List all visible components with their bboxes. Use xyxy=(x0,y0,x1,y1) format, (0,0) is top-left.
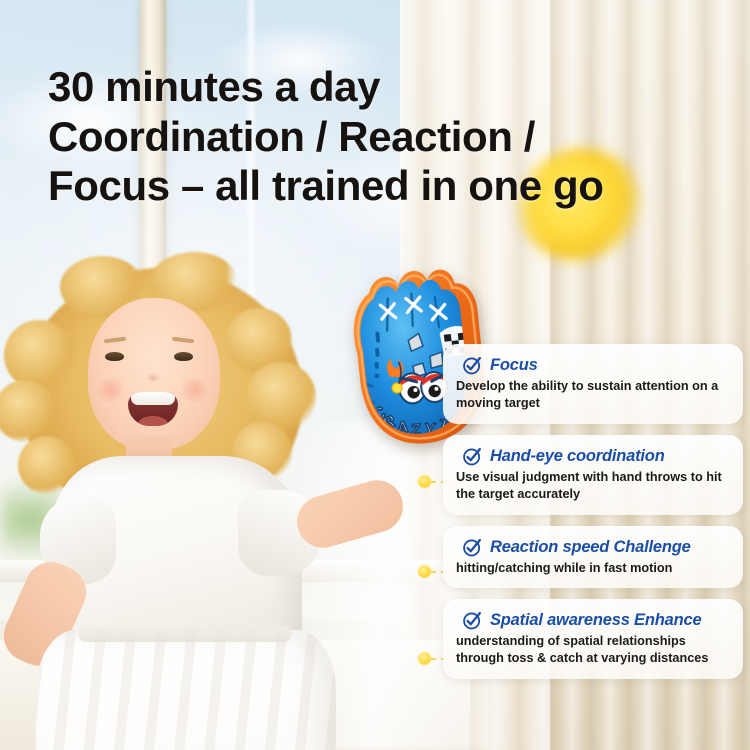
check-circle-icon xyxy=(462,537,483,558)
connector-dot xyxy=(418,475,431,488)
tongue xyxy=(138,416,168,426)
check-circle-icon xyxy=(462,446,483,467)
cheek-left xyxy=(94,378,128,402)
eye-right xyxy=(174,352,193,361)
promo-banner: C R A Z Y T O topbin xyxy=(0,0,750,750)
hair-curl xyxy=(4,320,74,390)
card-header: Reaction speed Challenge xyxy=(462,537,730,558)
headline-line-2: Coordination / Reaction / xyxy=(48,112,738,162)
feature-card-hand-eye-coordination[interactable]: Hand-eye coordination Use visual judgmen… xyxy=(443,435,743,515)
card-title: Spatial awareness Enhance xyxy=(490,611,701,630)
feature-card-spatial-awareness[interactable]: Spatial awareness Enhance understanding … xyxy=(443,599,743,679)
card-description: understanding of spatial relationships t… xyxy=(456,633,730,667)
check-circle-icon xyxy=(462,355,483,376)
card-description: hitting/catching while in fast motion xyxy=(456,560,730,577)
teeth xyxy=(131,392,175,405)
waistband xyxy=(78,626,292,642)
headline-line-3: Focus – all trained in one go xyxy=(48,161,738,211)
check-circle-icon xyxy=(462,610,483,631)
headline-line-1: 30 minutes a day xyxy=(48,62,738,112)
connector-dot xyxy=(418,565,431,578)
cheek-right xyxy=(178,378,212,402)
card-header: Focus xyxy=(462,355,730,376)
card-title: Reaction speed Challenge xyxy=(490,538,691,557)
nose xyxy=(146,372,160,381)
white-skirt xyxy=(36,630,336,750)
card-header: Spatial awareness Enhance xyxy=(462,610,730,631)
feature-card-list: Focus Develop the ability to sustain att… xyxy=(443,344,743,690)
card-description: Use visual judgment with hand throws to … xyxy=(456,469,730,503)
arm-right xyxy=(291,474,409,554)
feature-card-reaction-speed[interactable]: Reaction speed Challenge hitting/catchin… xyxy=(443,526,743,589)
card-title: Hand-eye coordination xyxy=(490,447,665,466)
feature-card-focus[interactable]: Focus Develop the ability to sustain att… xyxy=(443,344,743,424)
card-title: Focus xyxy=(490,356,538,375)
headline: 30 minutes a day Coordination / Reaction… xyxy=(48,62,738,211)
card-description: Develop the ability to sustain attention… xyxy=(456,378,730,412)
card-header: Hand-eye coordination xyxy=(462,446,730,467)
eye-left xyxy=(105,352,124,361)
connector-dot xyxy=(418,652,431,665)
